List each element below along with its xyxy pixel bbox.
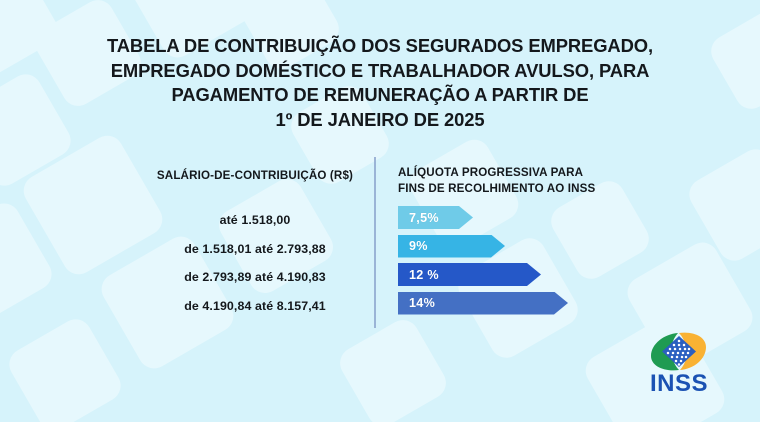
title-line-1: TABELA DE CONTRIBUIÇÃO DOS SEGURADOS EMP… xyxy=(0,34,760,59)
title-line-4: 1º DE JANEIRO DE 2025 xyxy=(0,108,760,133)
salary-range-column: até 1.518,00 de 1.518,01 até 2.793,88 de… xyxy=(150,206,360,320)
title-line-2: EMPREGADO DOMÉSTICO E TRABALHADOR AVULSO… xyxy=(0,59,760,84)
inss-logo: INSS xyxy=(636,329,722,395)
column-header-rate-line-1: ALÍQUOTA PROGRESSIVA PARA xyxy=(398,165,648,181)
rate-bar-row: 7,5% xyxy=(398,206,568,235)
rate-label: 7,5% xyxy=(409,211,439,225)
rate-arrow-bar: 14% xyxy=(398,292,568,315)
column-header-rate: ALÍQUOTA PROGRESSIVA PARA FINS DE RECOLH… xyxy=(398,165,648,196)
table-row: de 4.190,84 até 8.157,41 xyxy=(150,292,360,321)
column-header-rate-line-2: FINS DE RECOLHIMENTO AO INSS xyxy=(398,181,648,197)
column-header-salary: SALÁRIO-DE-CONTRIBUIÇÃO (R$) xyxy=(150,168,360,183)
table-row: de 1.518,01 até 2.793,88 xyxy=(150,235,360,264)
rate-bar-row: 9% xyxy=(398,235,568,264)
rate-label: 9% xyxy=(409,239,428,253)
table-row: até 1.518,00 xyxy=(150,206,360,235)
inss-wordmark: INSS xyxy=(650,370,708,395)
rate-label: 14% xyxy=(409,296,435,310)
rate-bar-row: 14% xyxy=(398,292,568,321)
rate-arrow-bar: 12 % xyxy=(398,263,541,286)
inss-contribution-table-infographic: TABELA DE CONTRIBUIÇÃO DOS SEGURADOS EMP… xyxy=(0,0,760,422)
title-line-3: PAGAMENTO DE REMUNERAÇÃO A PARTIR DE xyxy=(0,83,760,108)
rate-bar-column: 7,5% 9% 12 % 14% xyxy=(398,206,568,320)
inss-logo-graphic: INSS xyxy=(636,329,722,395)
rate-arrow-bar: 7,5% xyxy=(398,206,473,229)
rate-arrow-bar: 9% xyxy=(398,235,505,258)
page-title: TABELA DE CONTRIBUIÇÃO DOS SEGURADOS EMP… xyxy=(0,34,760,132)
rate-label: 12 % xyxy=(409,268,439,282)
rate-bar-row: 12 % xyxy=(398,263,568,292)
table-row: de 2.793,89 até 4.190,83 xyxy=(150,263,360,292)
column-divider xyxy=(374,157,376,328)
